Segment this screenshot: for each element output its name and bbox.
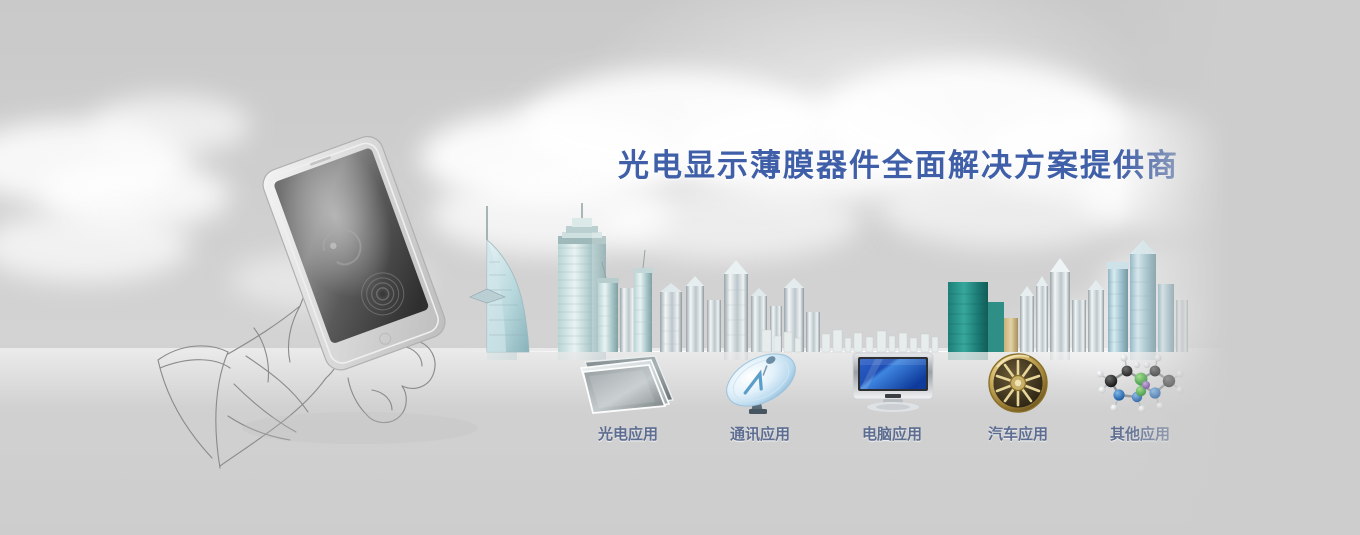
app-item-communication[interactable]: 通讯应用 bbox=[700, 352, 820, 444]
alloy-wheel-icon bbox=[958, 352, 1078, 414]
hand-holding-phone-illustration bbox=[150, 128, 490, 473]
app-label: 通讯应用 bbox=[700, 423, 820, 444]
app-label: 电脑应用 bbox=[832, 423, 952, 444]
app-item-automotive[interactable]: 汽车应用 bbox=[958, 352, 1078, 444]
app-label: 其他应用 bbox=[1080, 423, 1200, 444]
glass-panel-stack-icon bbox=[568, 352, 688, 414]
app-label: 汽车应用 bbox=[958, 423, 1078, 444]
skyline-buildings bbox=[470, 203, 1188, 360]
banner-artwork: 光电显示薄膜器件全面解决方案提供商 bbox=[0, 0, 1238, 535]
molecule-model-icon bbox=[1080, 352, 1200, 414]
app-item-other[interactable]: 其他应用 bbox=[1080, 352, 1200, 444]
application-icons-row: 光电应用 bbox=[560, 352, 1200, 472]
app-label: 光电应用 bbox=[568, 423, 688, 444]
app-item-optoelectronic[interactable]: 光电应用 bbox=[568, 352, 688, 444]
smartphone bbox=[259, 132, 450, 374]
satellite-dish-icon bbox=[700, 352, 820, 414]
page-title: 光电显示薄膜器件全面解决方案提供商 bbox=[618, 140, 1179, 185]
hand-phone-svg bbox=[150, 128, 490, 473]
app-item-computer[interactable]: 电脑应用 bbox=[832, 352, 952, 444]
computer-monitor-icon bbox=[832, 352, 952, 414]
hero-banner: 光电显示薄膜器件全面解决方案提供商 bbox=[0, 0, 1360, 535]
